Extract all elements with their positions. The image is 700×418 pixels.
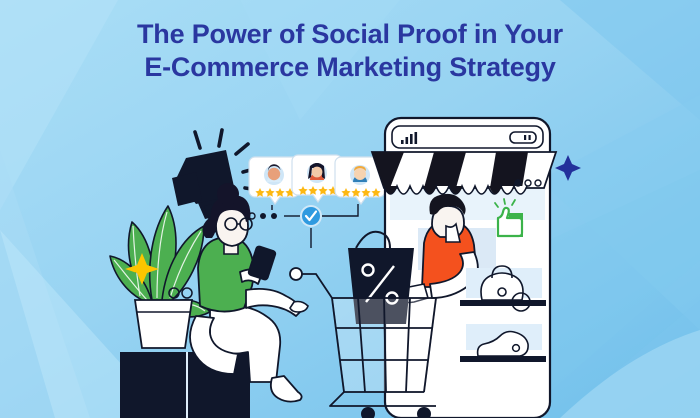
shelf-sneaker [460, 324, 546, 362]
page-title: The Power of Social Proof in Your E-Comm… [0, 18, 700, 84]
sparkle-blue [555, 155, 581, 181]
title-line-2: E-Commerce Marketing Strategy [0, 51, 700, 84]
avatar-man-blonde-hair [350, 165, 370, 185]
connector-dots [249, 213, 277, 219]
shelf-handbag [460, 266, 546, 311]
verified-check-badge[interactable] [300, 205, 322, 227]
title-line-1: The Power of Social Proof in Your [0, 18, 700, 51]
battery-icon [510, 132, 536, 143]
social-proof-banner: The Power of Social Proof in Your E-Comm… [0, 0, 700, 418]
avatar-woman-long-hair [307, 163, 327, 183]
